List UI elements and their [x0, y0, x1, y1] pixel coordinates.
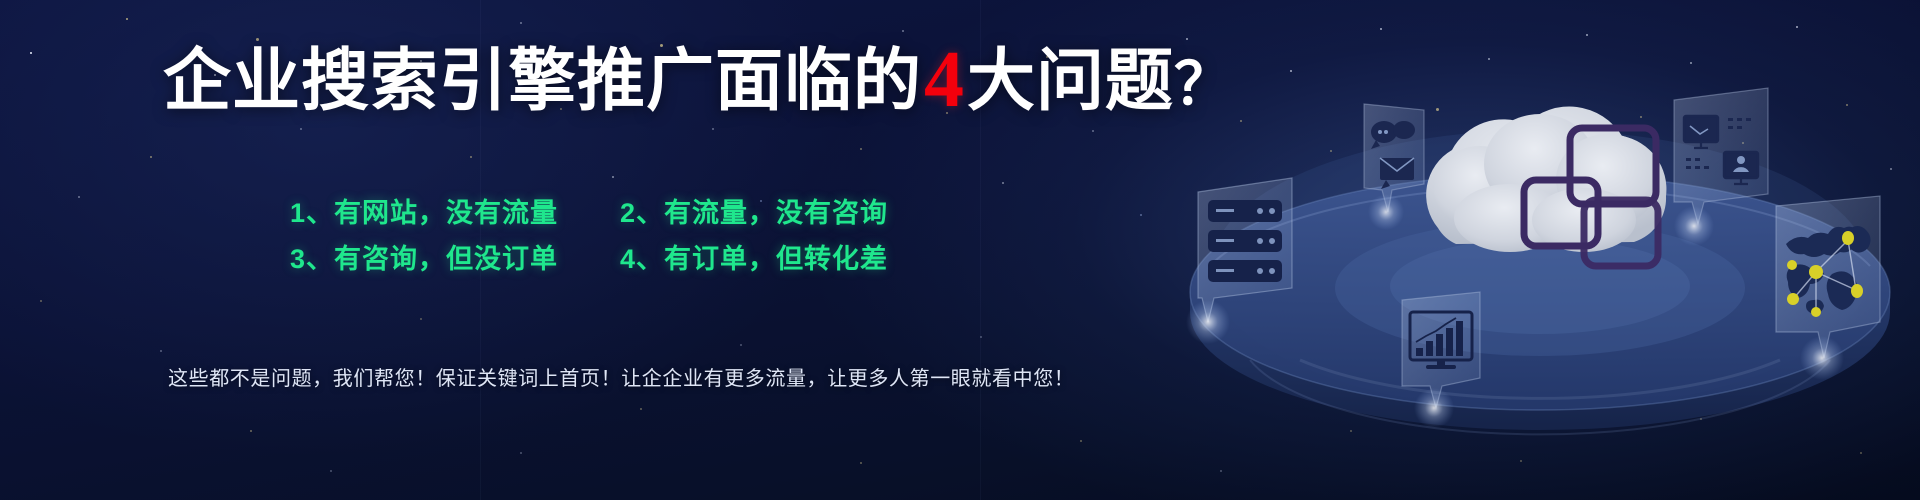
- headline-after: 大问题: [967, 43, 1174, 119]
- list-item-index: 4、: [620, 244, 664, 274]
- headline-number: 4: [924, 36, 965, 124]
- tagline: 这些都不是问题，我们帮您！保证关键词上首页！让企企业有更多流量，让更多人第一眼就…: [168, 362, 1074, 391]
- list-item-label: 有咨询，但没订单: [334, 244, 558, 274]
- list-item: 4、有订单，但转化差: [620, 242, 888, 276]
- headline-before: 企业搜索引擎推广面临的: [163, 43, 922, 119]
- list-item-index: 3、: [290, 244, 334, 274]
- list-item-label: 有订单，但转化差: [664, 244, 888, 274]
- list-item-label: 有网站，没有流量: [334, 198, 558, 228]
- problem-row: 1、有网站，没有流量 2、有流量，没有咨询: [290, 196, 888, 230]
- list-item-index: 1、: [290, 198, 334, 228]
- card-glow: [1186, 300, 1230, 344]
- page-title: 企业搜索引擎推广面临的4大问题？: [163, 40, 1233, 120]
- list-item-index: 2、: [620, 198, 664, 228]
- list-item-label: 有流量，没有咨询: [664, 198, 888, 228]
- card-glow: [1368, 194, 1404, 230]
- card-glow: [1674, 206, 1714, 246]
- list-item: 1、有网站，没有流量: [290, 196, 620, 230]
- text-column: 企业搜索引擎推广面临的4大问题？ 1、有网站，没有流量 2、有流量，没有咨询 3…: [0, 0, 1160, 500]
- list-item: 2、有流量，没有咨询: [620, 196, 888, 230]
- card-glow: [1800, 336, 1844, 380]
- server-rack-icon: [1208, 200, 1282, 282]
- problem-row: 3、有咨询，但没订单 4、有订单，但转化差: [290, 242, 888, 276]
- problem-list: 1、有网站，没有流量 2、有流量，没有咨询 3、有咨询，但没订单 4、有订单，但…: [290, 196, 888, 288]
- cloud-platform-illustration: [1180, 60, 1920, 420]
- list-item: 3、有咨询，但没订单: [290, 242, 620, 276]
- promo-banner: 企业搜索引擎推广面临的4大问题？ 1、有网站，没有流量 2、有流量，没有咨询 3…: [0, 0, 1920, 500]
